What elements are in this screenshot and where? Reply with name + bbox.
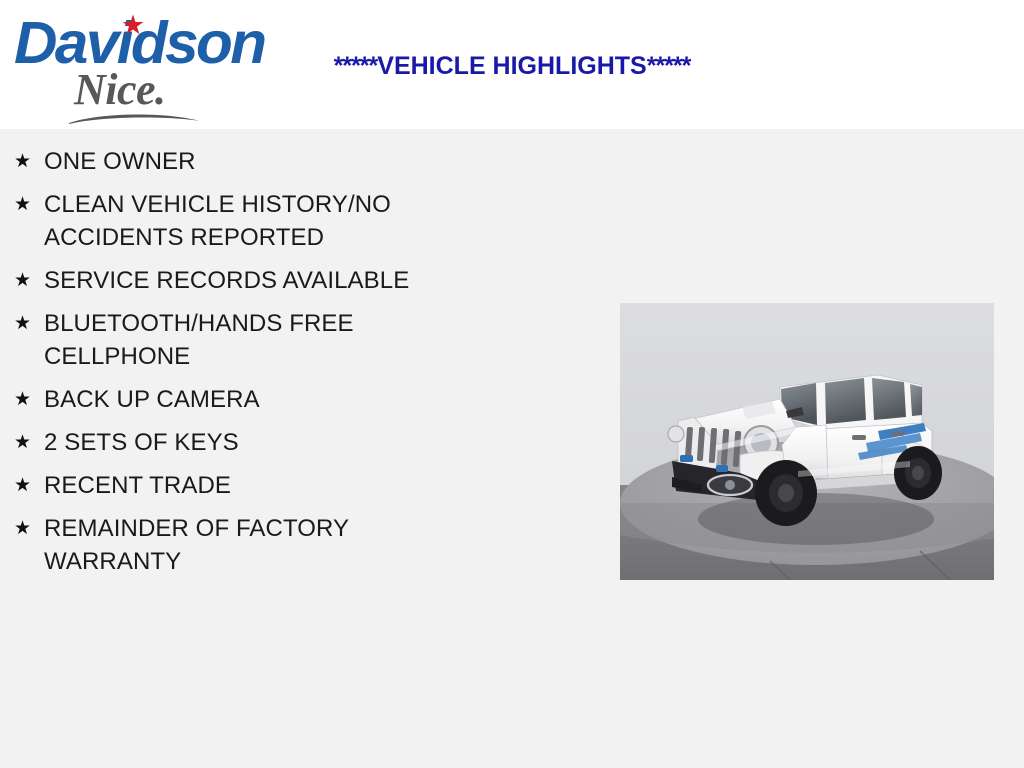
page-content: ★ONE OWNER★CLEAN VEHICLE HISTORY/NO ACCI… bbox=[0, 129, 1024, 768]
vehicle-photo[interactable] bbox=[620, 303, 994, 580]
page-header: Davidson ★ Nice. *****VEHICLE HIGHLIGHTS… bbox=[0, 0, 1024, 129]
vehicle-photo-graphic bbox=[620, 303, 994, 580]
highlight-item: ★REMAINDER OF FACTORY WARRANTY bbox=[0, 512, 560, 578]
highlight-star-icon: ★ bbox=[14, 188, 44, 221]
highlight-label: ONE OWNER bbox=[44, 145, 474, 178]
highlight-label: CLEAN VEHICLE HISTORY/NO ACCIDENTS REPOR… bbox=[44, 188, 474, 254]
highlight-label: 2 SETS OF KEYS bbox=[44, 426, 474, 459]
title-trailing-stars: ***** bbox=[647, 52, 691, 80]
highlight-item: ★SERVICE RECORDS AVAILABLE bbox=[0, 264, 560, 297]
highlight-star-icon: ★ bbox=[14, 264, 44, 297]
highlight-star-icon: ★ bbox=[14, 426, 44, 459]
highlight-label: BLUETOOTH/HANDS FREE CELLPHONE bbox=[44, 307, 474, 373]
highlight-label: BACK UP CAMERA bbox=[44, 383, 474, 416]
highlight-star-icon: ★ bbox=[14, 145, 44, 178]
highlight-label: SERVICE RECORDS AVAILABLE bbox=[44, 264, 474, 297]
highlight-item: ★RECENT TRADE bbox=[0, 469, 560, 502]
highlight-item: ★BACK UP CAMERA bbox=[0, 383, 560, 416]
highlight-star-icon: ★ bbox=[14, 383, 44, 416]
title-leading-stars: ***** bbox=[334, 52, 378, 80]
logo-star-icon: ★ bbox=[120, 12, 146, 38]
highlight-label: RECENT TRADE bbox=[44, 469, 474, 502]
highlight-star-icon: ★ bbox=[14, 512, 44, 545]
highlight-star-icon: ★ bbox=[14, 307, 44, 340]
title-text: VEHICLE HIGHLIGHTS bbox=[377, 52, 646, 80]
highlight-item: ★2 SETS OF KEYS bbox=[0, 426, 560, 459]
highlight-star-icon: ★ bbox=[14, 469, 44, 502]
logo-swoosh-icon bbox=[67, 110, 202, 126]
highlight-item: ★CLEAN VEHICLE HISTORY/NO ACCIDENTS REPO… bbox=[0, 188, 560, 254]
page-title: *****VEHICLE HIGHLIGHTS***** bbox=[0, 52, 1024, 81]
highlight-item: ★BLUETOOTH/HANDS FREE CELLPHONE bbox=[0, 307, 560, 373]
highlight-label: REMAINDER OF FACTORY WARRANTY bbox=[44, 512, 474, 578]
vehicle-highlights-list: ★ONE OWNER★CLEAN VEHICLE HISTORY/NO ACCI… bbox=[0, 129, 560, 588]
highlight-item: ★ONE OWNER bbox=[0, 145, 560, 178]
